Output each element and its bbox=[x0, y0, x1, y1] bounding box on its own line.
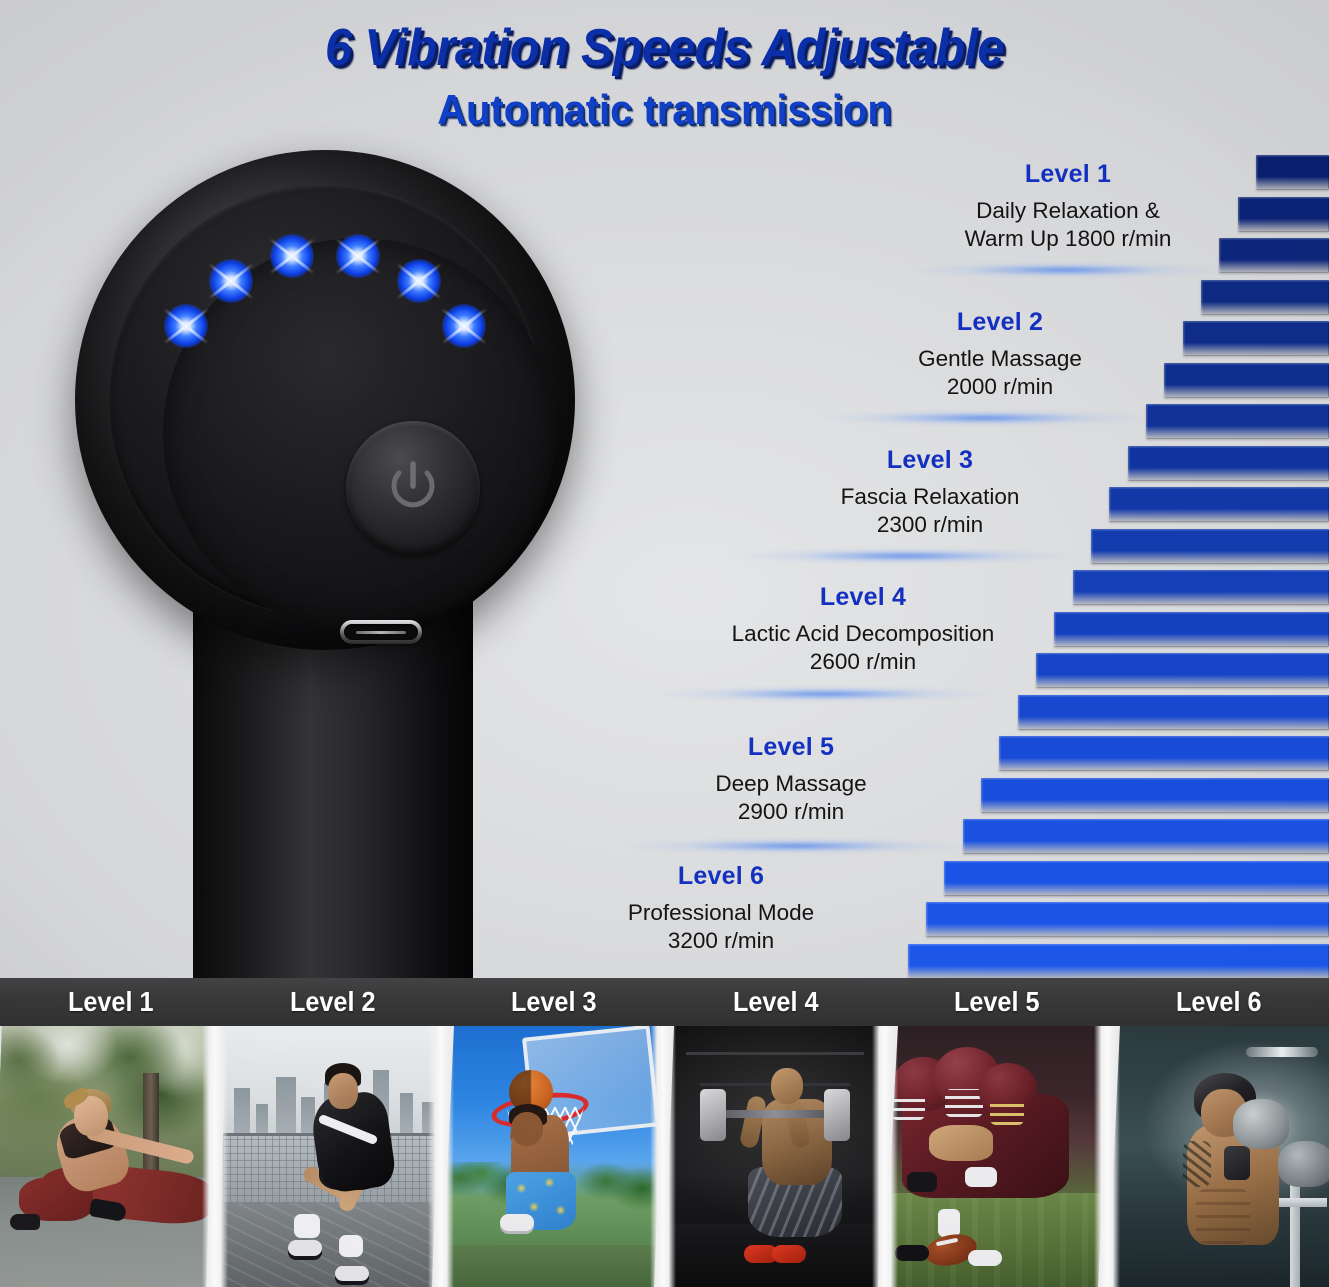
speed-bar-1 bbox=[1256, 155, 1329, 190]
speed-bar-7 bbox=[1146, 404, 1329, 439]
level-block-6: Level 6Professional Mode3200 r/min bbox=[501, 862, 941, 955]
activity-photo-strip bbox=[0, 1026, 1329, 1287]
photo-level-4-gym-barbell-lift bbox=[664, 1026, 886, 1287]
strip-label-level-3: Level 3 bbox=[454, 984, 653, 1020]
page-subtitle: Automatic transmission bbox=[33, 86, 1296, 134]
device-ring bbox=[109, 184, 541, 616]
speed-bar-8 bbox=[1128, 446, 1329, 481]
photo-seam bbox=[1094, 1026, 1120, 1287]
device-faceplate bbox=[163, 238, 555, 630]
usb-port-inner bbox=[344, 624, 418, 640]
speed-bar-17 bbox=[963, 819, 1329, 854]
speed-bar-4 bbox=[1201, 280, 1329, 315]
photo-seam bbox=[202, 1026, 228, 1287]
power-icon bbox=[381, 456, 445, 520]
speed-bar-20 bbox=[908, 944, 1329, 979]
strip-label-level-5: Level 5 bbox=[897, 984, 1096, 1020]
photo-level-6-boxer-training bbox=[1106, 1026, 1329, 1287]
photo-level-3-basketball-dunk bbox=[442, 1026, 664, 1287]
level-desc-line1-6: Professional Mode bbox=[501, 899, 941, 927]
speed-staircase-chart bbox=[890, 150, 1329, 978]
speed-bar-11 bbox=[1073, 570, 1329, 605]
level-label-strip: Level 1Level 2Level 3Level 4Level 5Level… bbox=[0, 978, 1329, 1026]
infographic-page: 6 Vibration Speeds Adjustable Automatic … bbox=[0, 0, 1329, 1287]
photo-seam bbox=[650, 1026, 676, 1287]
level-heading-6: Level 6 bbox=[501, 862, 941, 891]
speed-bar-2 bbox=[1238, 197, 1329, 232]
speed-bar-3 bbox=[1219, 238, 1329, 273]
power-button[interactable] bbox=[346, 421, 480, 555]
usb-port-bar bbox=[356, 631, 406, 634]
strip-label-level-1: Level 1 bbox=[11, 984, 210, 1020]
speed-bar-5 bbox=[1183, 321, 1329, 356]
speed-bar-14 bbox=[1018, 695, 1329, 730]
photo-level-2-man-running-city bbox=[216, 1026, 440, 1287]
photo-level-5-american-football-line bbox=[884, 1026, 1110, 1287]
massage-gun-head bbox=[75, 150, 585, 980]
speed-bar-12 bbox=[1054, 612, 1329, 647]
photo-level-1-woman-stretching-park bbox=[0, 1026, 214, 1287]
photo-seam bbox=[872, 1026, 898, 1287]
strip-label-level-2: Level 2 bbox=[233, 984, 432, 1020]
speed-bar-10 bbox=[1091, 529, 1329, 564]
device-disc bbox=[75, 150, 575, 650]
strip-label-level-4: Level 4 bbox=[676, 984, 875, 1020]
speed-bar-15 bbox=[999, 736, 1329, 771]
speed-bar-19 bbox=[926, 902, 1329, 937]
speed-bar-16 bbox=[981, 778, 1329, 813]
level-description-6: Professional Mode3200 r/min bbox=[501, 899, 941, 955]
speed-bar-18 bbox=[944, 861, 1329, 896]
speed-bar-9 bbox=[1109, 487, 1329, 522]
photo-seam bbox=[428, 1026, 454, 1287]
usb-c-charging-port bbox=[340, 620, 422, 644]
speed-bar-6 bbox=[1164, 363, 1329, 398]
level-desc-line2-6: 3200 r/min bbox=[501, 927, 941, 955]
header-block: 6 Vibration Speeds Adjustable Automatic … bbox=[0, 18, 1329, 134]
speed-bar-13 bbox=[1036, 653, 1329, 688]
page-title: 6 Vibration Speeds Adjustable bbox=[47, 18, 1283, 78]
strip-label-level-6: Level 6 bbox=[1119, 984, 1318, 1020]
